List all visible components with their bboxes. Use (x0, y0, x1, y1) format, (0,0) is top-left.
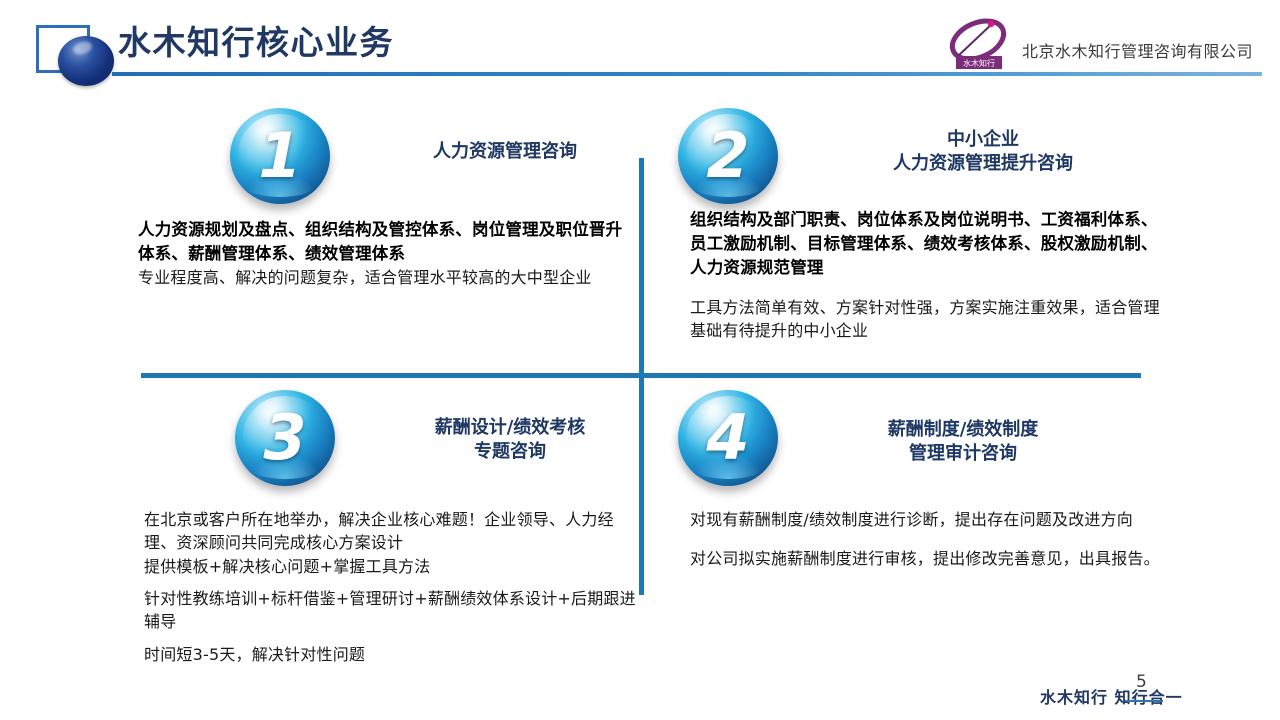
quadrant-3-plain-text-2: 针对性教练培训+标杆借鉴+管理研讨+薪酬绩效体系设计+后期跟进辅导 (144, 587, 639, 634)
spacer (144, 578, 639, 587)
footer-underline (1125, 700, 1163, 702)
quadrant-2-body: 组织结构及部门职责、岗位体系及岗位说明书、工资福利体系、员工激励机制、目标管理体… (690, 208, 1170, 342)
page-title: 水木知行核心业务 (118, 16, 394, 64)
spacer (690, 531, 1168, 547)
number-badge-4: 4 (678, 390, 778, 486)
quadrant-4-plain-text: 对现有薪酬制度/绩效制度进行诊断，提出存在问题及改进方向 (690, 508, 1168, 531)
company-name: 北京水木知行管理咨询有限公司 (1022, 38, 1253, 62)
svg-text:水木知行: 水木知行 (963, 58, 995, 68)
badge-number-4: 4 (678, 390, 778, 486)
quadrant-4-title-line1: 薪酬制度/绩效制度 (818, 418, 1108, 442)
slide-root: 水木知行核心业务 水木知行 北京水木知行管理咨询有限公司 1 人力资源管理咨询 … (0, 0, 1280, 720)
header-sphere-icon (58, 36, 114, 86)
quadrant-4-title-line2: 管理审计咨询 (818, 442, 1108, 466)
quadrant-2-head: 2 中小企业 人力资源管理提升咨询 (668, 108, 1168, 206)
quadrant-4-title: 薪酬制度/绩效制度 管理审计咨询 (818, 418, 1108, 466)
spacer (144, 634, 639, 643)
horizontal-divider (141, 373, 1141, 378)
quadrant-2-title-line1: 中小企业 (833, 128, 1133, 152)
quadrant-2-title: 中小企业 人力资源管理提升咨询 (833, 128, 1133, 176)
number-badge-1: 1 (230, 108, 330, 204)
quadrant-4-body: 对现有薪酬制度/绩效制度进行诊断，提出存在问题及改进方向 对公司拟实施薪酬制度进… (690, 508, 1168, 571)
number-badge-2: 2 (678, 108, 778, 204)
quadrant-1-title: 人力资源管理咨询 (380, 140, 630, 164)
quadrant-2-title-line2: 人力资源管理提升咨询 (833, 152, 1133, 176)
quadrant-3: 3 薪酬设计/绩效考核 专题咨询 在北京或客户所在地举办，解决企业核心难题！企业… (130, 390, 630, 488)
quadrant-3-body: 在北京或客户所在地举办，解决企业核心难题！企业领导、人力经理、资深顾问共同完成核… (144, 508, 639, 666)
quadrant-1-bold-text: 人力资源规划及盘点、组织结构及管控体系、岗位管理及职位晋升体系、薪酬管理体系、绩… (138, 218, 628, 266)
quadrant-2-plain-text: 工具方法简单有效、方案针对性强，方案实施注重效果，适合管理基础有待提升的中小企业 (690, 296, 1170, 343)
quadrant-3-title: 薪酬设计/绩效考核 专题咨询 (380, 416, 640, 464)
page-number: 5 (1136, 672, 1147, 692)
quadrant-2: 2 中小企业 人力资源管理提升咨询 组织结构及部门职责、岗位体系及岗位说明书、工… (668, 108, 1168, 206)
quadrant-2-bold-text: 组织结构及部门职责、岗位体系及岗位说明书、工资福利体系、员工激励机制、目标管理体… (690, 208, 1170, 280)
slide-footer: 水木知行 知行合一 5 (1040, 676, 1270, 716)
quadrant-4: 4 薪酬制度/绩效制度 管理审计咨询 对现有薪酬制度/绩效制度进行诊断，提出存在… (668, 390, 1168, 488)
spacer (690, 280, 1170, 296)
quadrant-3-plain-text: 在北京或客户所在地举办，解决企业核心难题！企业领导、人力经理、资深顾问共同完成核… (144, 508, 639, 578)
quadrant-1-head: 1 人力资源管理咨询 (130, 108, 630, 206)
footer-slogan: 水木知行 知行合一 (1040, 684, 1183, 708)
quadrant-1-body: 人力资源规划及盘点、组织结构及管控体系、岗位管理及职位晋升体系、薪酬管理体系、绩… (138, 218, 628, 289)
badge-number-2: 2 (678, 108, 778, 204)
quadrant-3-plain-text-3: 时间短3-5天，解决针对性问题 (144, 643, 639, 666)
number-badge-3: 3 (235, 390, 335, 486)
quadrant-3-title-line2: 专题咨询 (380, 440, 640, 464)
quadrant-3-head: 3 薪酬设计/绩效考核 专题咨询 (130, 390, 630, 488)
slide-header: 水木知行核心业务 水木知行 北京水木知行管理咨询有限公司 (0, 0, 1280, 86)
header-rule (112, 72, 1262, 76)
quadrant-3-title-line1: 薪酬设计/绩效考核 (380, 416, 640, 440)
quadrant-1: 1 人力资源管理咨询 人力资源规划及盘点、组织结构及管控体系、岗位管理及职位晋升… (130, 108, 630, 206)
quadrant-1-plain-text: 专业程度高、解决的问题复杂，适合管理水平较高的大中型企业 (138, 266, 628, 289)
badge-number-1: 1 (230, 108, 330, 204)
quadrant-4-head: 4 薪酬制度/绩效制度 管理审计咨询 (668, 390, 1168, 488)
quadrant-4-plain-text-2: 对公司拟实施薪酬制度进行审核，提出修改完善意见，出具报告。 (690, 547, 1168, 570)
badge-number-3: 3 (235, 390, 335, 486)
company-logo-icon: 水木知行 (944, 16, 1016, 72)
